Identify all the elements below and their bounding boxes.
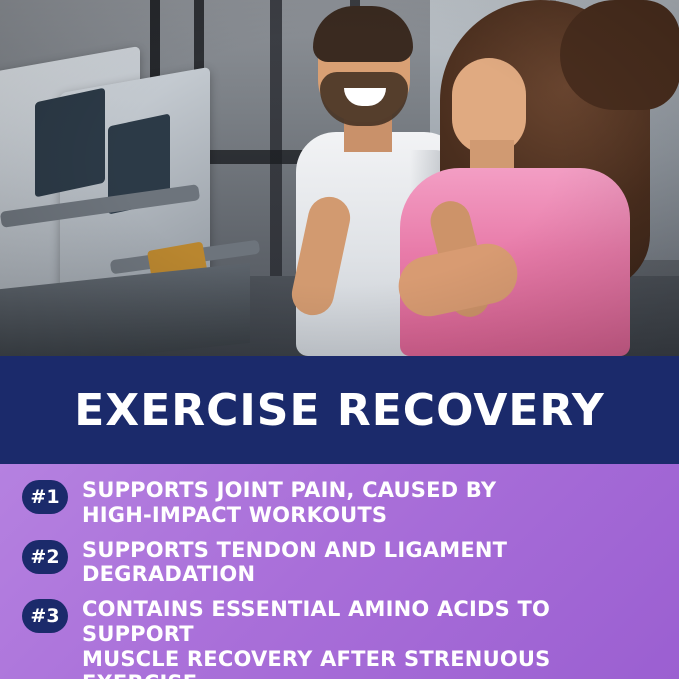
page-title: EXERCISE RECOVERY: [74, 385, 605, 436]
gym-photo: [0, 0, 679, 356]
bullet-text-2: SUPPORTS TENDON AND LIGAMENT DEGRADATION: [82, 538, 661, 588]
bullet-badge-3: #3: [22, 599, 68, 633]
list-item: #3 CONTAINS ESSENTIAL AMINO ACIDS TO SUP…: [0, 597, 679, 679]
bullet-badge-2: #2: [22, 540, 68, 574]
benefits-list: #1 SUPPORTS JOINT PAIN, CAUSED BY HIGH-I…: [0, 464, 679, 679]
list-item: #2 SUPPORTS TENDON AND LIGAMENT DEGRADAT…: [0, 538, 679, 588]
list-item: #1 SUPPORTS JOINT PAIN, CAUSED BY HIGH-I…: [0, 478, 679, 528]
photo-vignette: [0, 0, 679, 356]
bullet-badge-1: #1: [22, 480, 68, 514]
exercise-recovery-poster: EXERCISE RECOVERY #1 SUPPORTS JOINT PAIN…: [0, 0, 679, 679]
title-band: EXERCISE RECOVERY: [0, 356, 679, 464]
bullet-text-3: CONTAINS ESSENTIAL AMINO ACIDS TO SUPPOR…: [82, 597, 661, 679]
bullet-text-1: SUPPORTS JOINT PAIN, CAUSED BY HIGH-IMPA…: [82, 478, 496, 528]
